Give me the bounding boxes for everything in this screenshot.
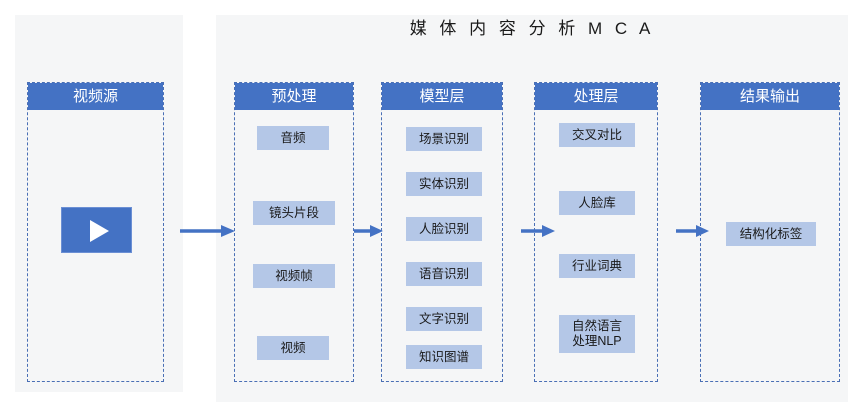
- chip-result-0[interactable]: 结构化标签: [726, 222, 816, 246]
- chip-processing-2[interactable]: 行业词典: [559, 254, 635, 278]
- stage-header-model-layer: 模型层: [382, 83, 502, 110]
- diagram-title: 媒 体 内 容 分 析 M C A: [216, 17, 848, 41]
- play-icon: [90, 220, 109, 242]
- video-thumbnail[interactable]: [61, 207, 132, 253]
- stage-header-result-output: 结果输出: [701, 83, 839, 110]
- diagram-canvas: 媒 体 内 容 分 析 M C A 视频源 预处理 音频 镜头片段 视频帧 视频…: [0, 0, 859, 411]
- chip-preprocess-2[interactable]: 视频帧: [253, 264, 335, 288]
- arrow-video-source-to-preprocess: [180, 224, 236, 238]
- stage-header-processing-layer: 处理层: [535, 83, 657, 110]
- chip-processing-0[interactable]: 交叉对比: [559, 123, 635, 147]
- stage-result-output[interactable]: 结果输出 结构化标签: [700, 82, 840, 382]
- chip-processing-1[interactable]: 人脸库: [559, 191, 635, 215]
- chip-processing-3[interactable]: 自然语言 处理NLP: [559, 315, 635, 353]
- arrow-processing-layer-to-result-output: [676, 224, 710, 238]
- chip-model-4[interactable]: 文字识别: [406, 307, 482, 331]
- chip-model-5[interactable]: 知识图谱: [406, 345, 482, 369]
- chip-preprocess-3[interactable]: 视频: [257, 336, 329, 360]
- stage-header-preprocess: 预处理: [235, 83, 353, 110]
- stage-model-layer[interactable]: 模型层 场景识别 实体识别 人脸识别 语音识别 文字识别 知识图谱: [381, 82, 503, 382]
- stage-preprocess[interactable]: 预处理 音频 镜头片段 视频帧 视频: [234, 82, 354, 382]
- chip-model-0[interactable]: 场景识别: [406, 127, 482, 151]
- stage-header-video-source: 视频源: [28, 83, 163, 110]
- chip-preprocess-1[interactable]: 镜头片段: [253, 201, 335, 225]
- chip-model-3[interactable]: 语音识别: [406, 262, 482, 286]
- arrow-preprocess-to-model-layer: [354, 224, 384, 238]
- stage-video-source[interactable]: 视频源: [27, 82, 164, 382]
- arrow-model-layer-to-processing-layer: [521, 224, 556, 238]
- chip-model-1[interactable]: 实体识别: [406, 172, 482, 196]
- chip-model-2[interactable]: 人脸识别: [406, 217, 482, 241]
- chip-preprocess-0[interactable]: 音频: [257, 126, 329, 150]
